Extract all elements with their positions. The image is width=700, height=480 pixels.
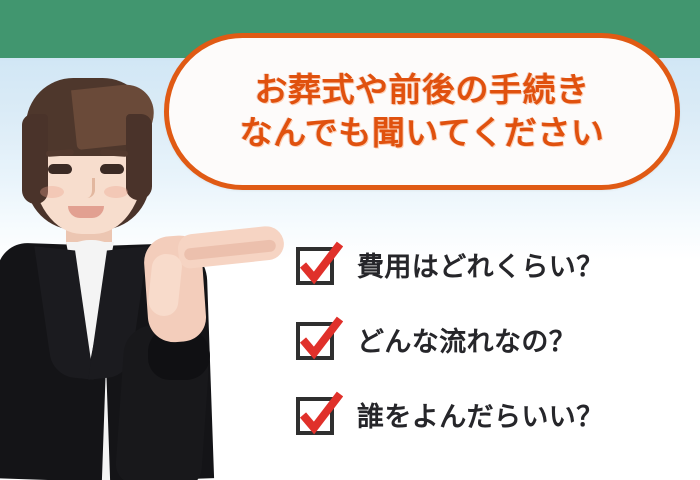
nose: [82, 178, 95, 198]
blush-left: [40, 186, 64, 198]
checkbox-checked-icon: [295, 243, 339, 287]
headline-line-1: お葬式や前後の手続き: [255, 70, 590, 110]
headline-speech-bubble: お葬式や前後の手続き なんでも聞いてください: [164, 33, 680, 190]
question-checklist: 費用はどれくらい？ どんな流れなの？ 誰をよんだらいい？: [295, 227, 685, 452]
hair-side-right: [126, 114, 152, 200]
checkbox-square: [296, 322, 334, 360]
checklist-item-cost: 費用はどれくらい？: [295, 227, 685, 302]
blush-right: [104, 186, 128, 198]
checklist-label: どんな流れなの？: [357, 320, 576, 359]
eye-left: [48, 164, 72, 174]
eye-right: [100, 164, 124, 174]
headline-line-2: なんでも聞いてください: [240, 113, 605, 153]
checkbox-square: [296, 247, 334, 285]
checkbox-checked-icon: [295, 318, 339, 362]
headline-text-block: お葬式や前後の手続き なんでも聞いてください: [169, 38, 675, 185]
promo-banner: お葬式や前後の手続き なんでも聞いてください 費用はどれくらい？ どんな流れなの…: [0, 0, 700, 480]
checkbox-square: [296, 397, 334, 435]
checklist-item-process: どんな流れなの？: [295, 302, 685, 377]
checklist-label: 費用はどれくらい？: [357, 245, 604, 284]
checklist-item-guests: 誰をよんだらいい？: [295, 377, 685, 452]
checklist-label: 誰をよんだらいい？: [357, 395, 604, 434]
checkbox-checked-icon: [295, 393, 339, 437]
